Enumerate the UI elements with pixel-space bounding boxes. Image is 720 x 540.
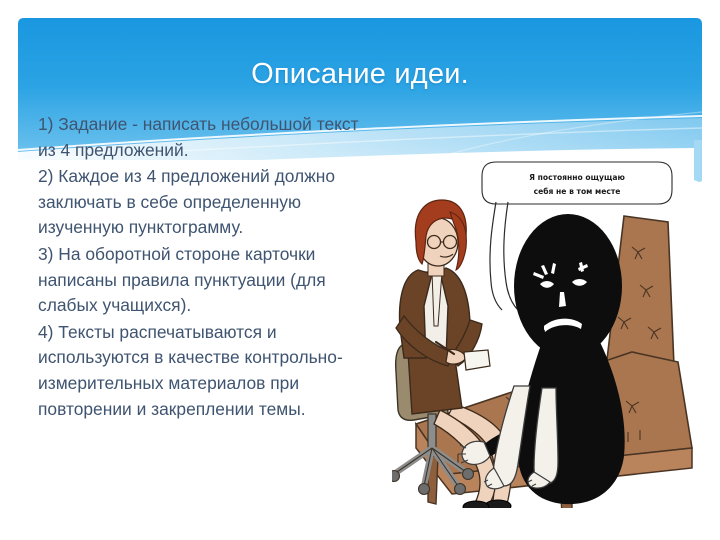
body-paragraph-1: 1) Задание - написать небольшой текст из… [38, 112, 378, 163]
body-paragraph-4: 4) Тексты распечатываются и используются… [38, 320, 378, 422]
body-paragraph-3: 3) На оборотной стороне карточки написан… [38, 242, 378, 319]
body-text: 1) Задание - написать небольшой текст из… [38, 112, 378, 423]
speech-bubble-line-1: Я постоянно ощущаю [529, 173, 625, 182]
speech-bubble-line-2: себя не в том месте [534, 187, 621, 196]
body-paragraph-2: 2) Каждое из 4 предложений должно заключ… [38, 164, 378, 241]
slide: Описание идеи. 1) Задание - написать неб… [0, 0, 720, 540]
therapy-cartoon-image: Я постоянно ощущаю себя не в том месте [392, 156, 708, 508]
slide-title: Описание идеи. [18, 58, 702, 91]
